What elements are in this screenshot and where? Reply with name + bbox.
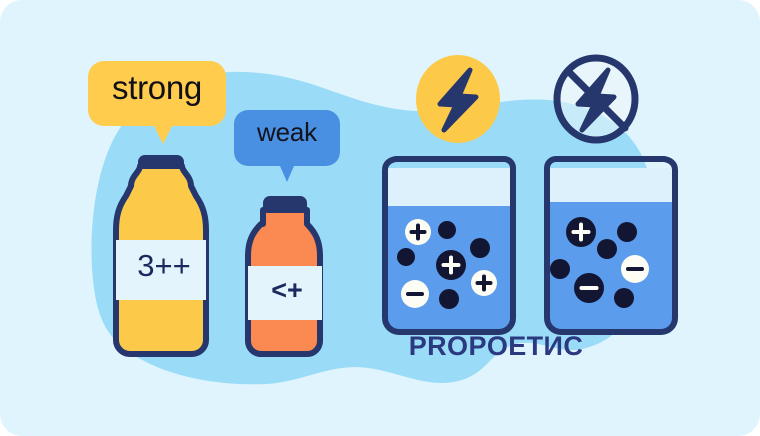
bottle-weak-label-band (240, 266, 336, 320)
lightning-bolt-icon[interactable] (416, 55, 500, 143)
bottle-strong-label-band (108, 240, 218, 300)
no-lightning-icon[interactable] (554, 55, 638, 143)
illustration-canvas: strong weak 3++ <+ PROPOETИC (0, 0, 760, 436)
illustration-artwork (0, 0, 760, 436)
beaker-right (543, 159, 683, 347)
beaker-left (380, 159, 520, 346)
